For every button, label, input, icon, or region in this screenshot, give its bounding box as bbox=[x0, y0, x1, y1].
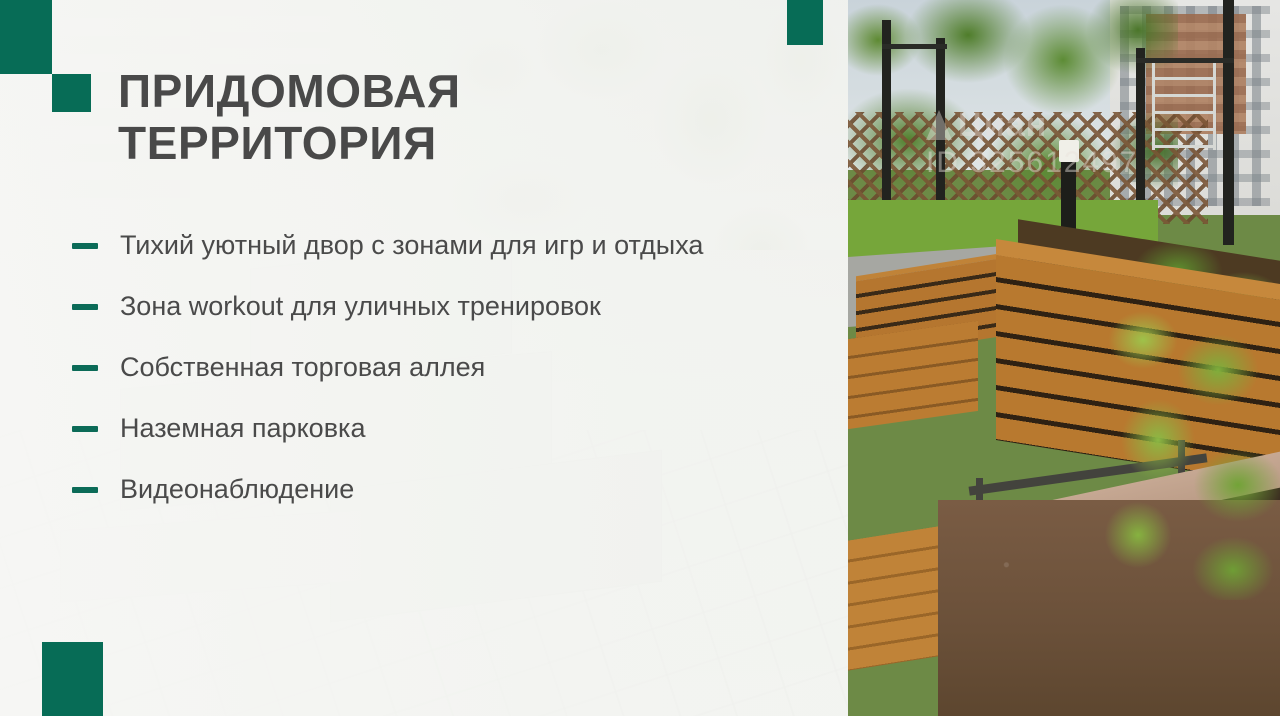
page-title-line-1: ПРИДОМОВАЯ bbox=[118, 66, 758, 118]
list-item-label: Зона workout для уличных тренировок bbox=[120, 289, 601, 324]
list-item: Видеонаблюдение bbox=[72, 472, 792, 507]
accent-square-top-left-small bbox=[52, 74, 91, 112]
watermark-id: ID 325612497 bbox=[926, 146, 1139, 180]
list-item-label: Наземная парковка bbox=[120, 411, 365, 446]
list-item: Наземная парковка bbox=[72, 411, 792, 446]
dash-bullet-icon bbox=[72, 243, 98, 249]
watermark: Циан ID 325612497 bbox=[926, 108, 1139, 180]
photo-fence-post bbox=[1223, 0, 1234, 245]
list-item-label: Видеонаблюдение bbox=[120, 472, 354, 507]
feature-list: Тихий уютный двор с зонами для игр и отд… bbox=[72, 228, 792, 533]
accent-square-bottom-left bbox=[42, 642, 103, 716]
list-item: Тихий уютный двор с зонами для игр и отд… bbox=[72, 228, 792, 263]
watermark-brand-text: Циан bbox=[958, 108, 1047, 142]
photo-workout-bar bbox=[882, 44, 947, 49]
photo-shrub-foreground bbox=[1098, 300, 1280, 600]
photo-wooden-bench-left bbox=[848, 321, 978, 429]
courtyard-photo: Циан ID 325612497 bbox=[848, 0, 1280, 716]
cian-logo-icon bbox=[926, 110, 952, 140]
page-title: ПРИДОМОВАЯ ТЕРРИТОРИЯ bbox=[118, 66, 758, 170]
list-item: Зона workout для уличных тренировок bbox=[72, 289, 792, 324]
list-item: Собственная торговая аллея bbox=[72, 350, 792, 385]
left-content-panel: ПРИДОМОВАЯ ТЕРРИТОРИЯ Тихий уютный двор … bbox=[0, 0, 848, 716]
accent-square-top-right bbox=[787, 0, 823, 45]
dash-bullet-icon bbox=[72, 487, 98, 493]
dash-bullet-icon bbox=[72, 304, 98, 310]
watermark-brand: Циан bbox=[926, 108, 1139, 142]
photo-workout-bar bbox=[1136, 58, 1234, 63]
accent-square-top-left-large bbox=[0, 0, 52, 74]
list-item-label: Собственная торговая аллея bbox=[120, 350, 485, 385]
page-title-line-2: ТЕРРИТОРИЯ bbox=[118, 118, 758, 170]
photo-workout-ladder bbox=[1152, 60, 1216, 150]
list-item-label: Тихий уютный двор с зонами для игр и отд… bbox=[120, 228, 703, 263]
dash-bullet-icon bbox=[72, 426, 98, 432]
slide-root: ПРИДОМОВАЯ ТЕРРИТОРИЯ Тихий уютный двор … bbox=[0, 0, 1280, 716]
dash-bullet-icon bbox=[72, 365, 98, 371]
